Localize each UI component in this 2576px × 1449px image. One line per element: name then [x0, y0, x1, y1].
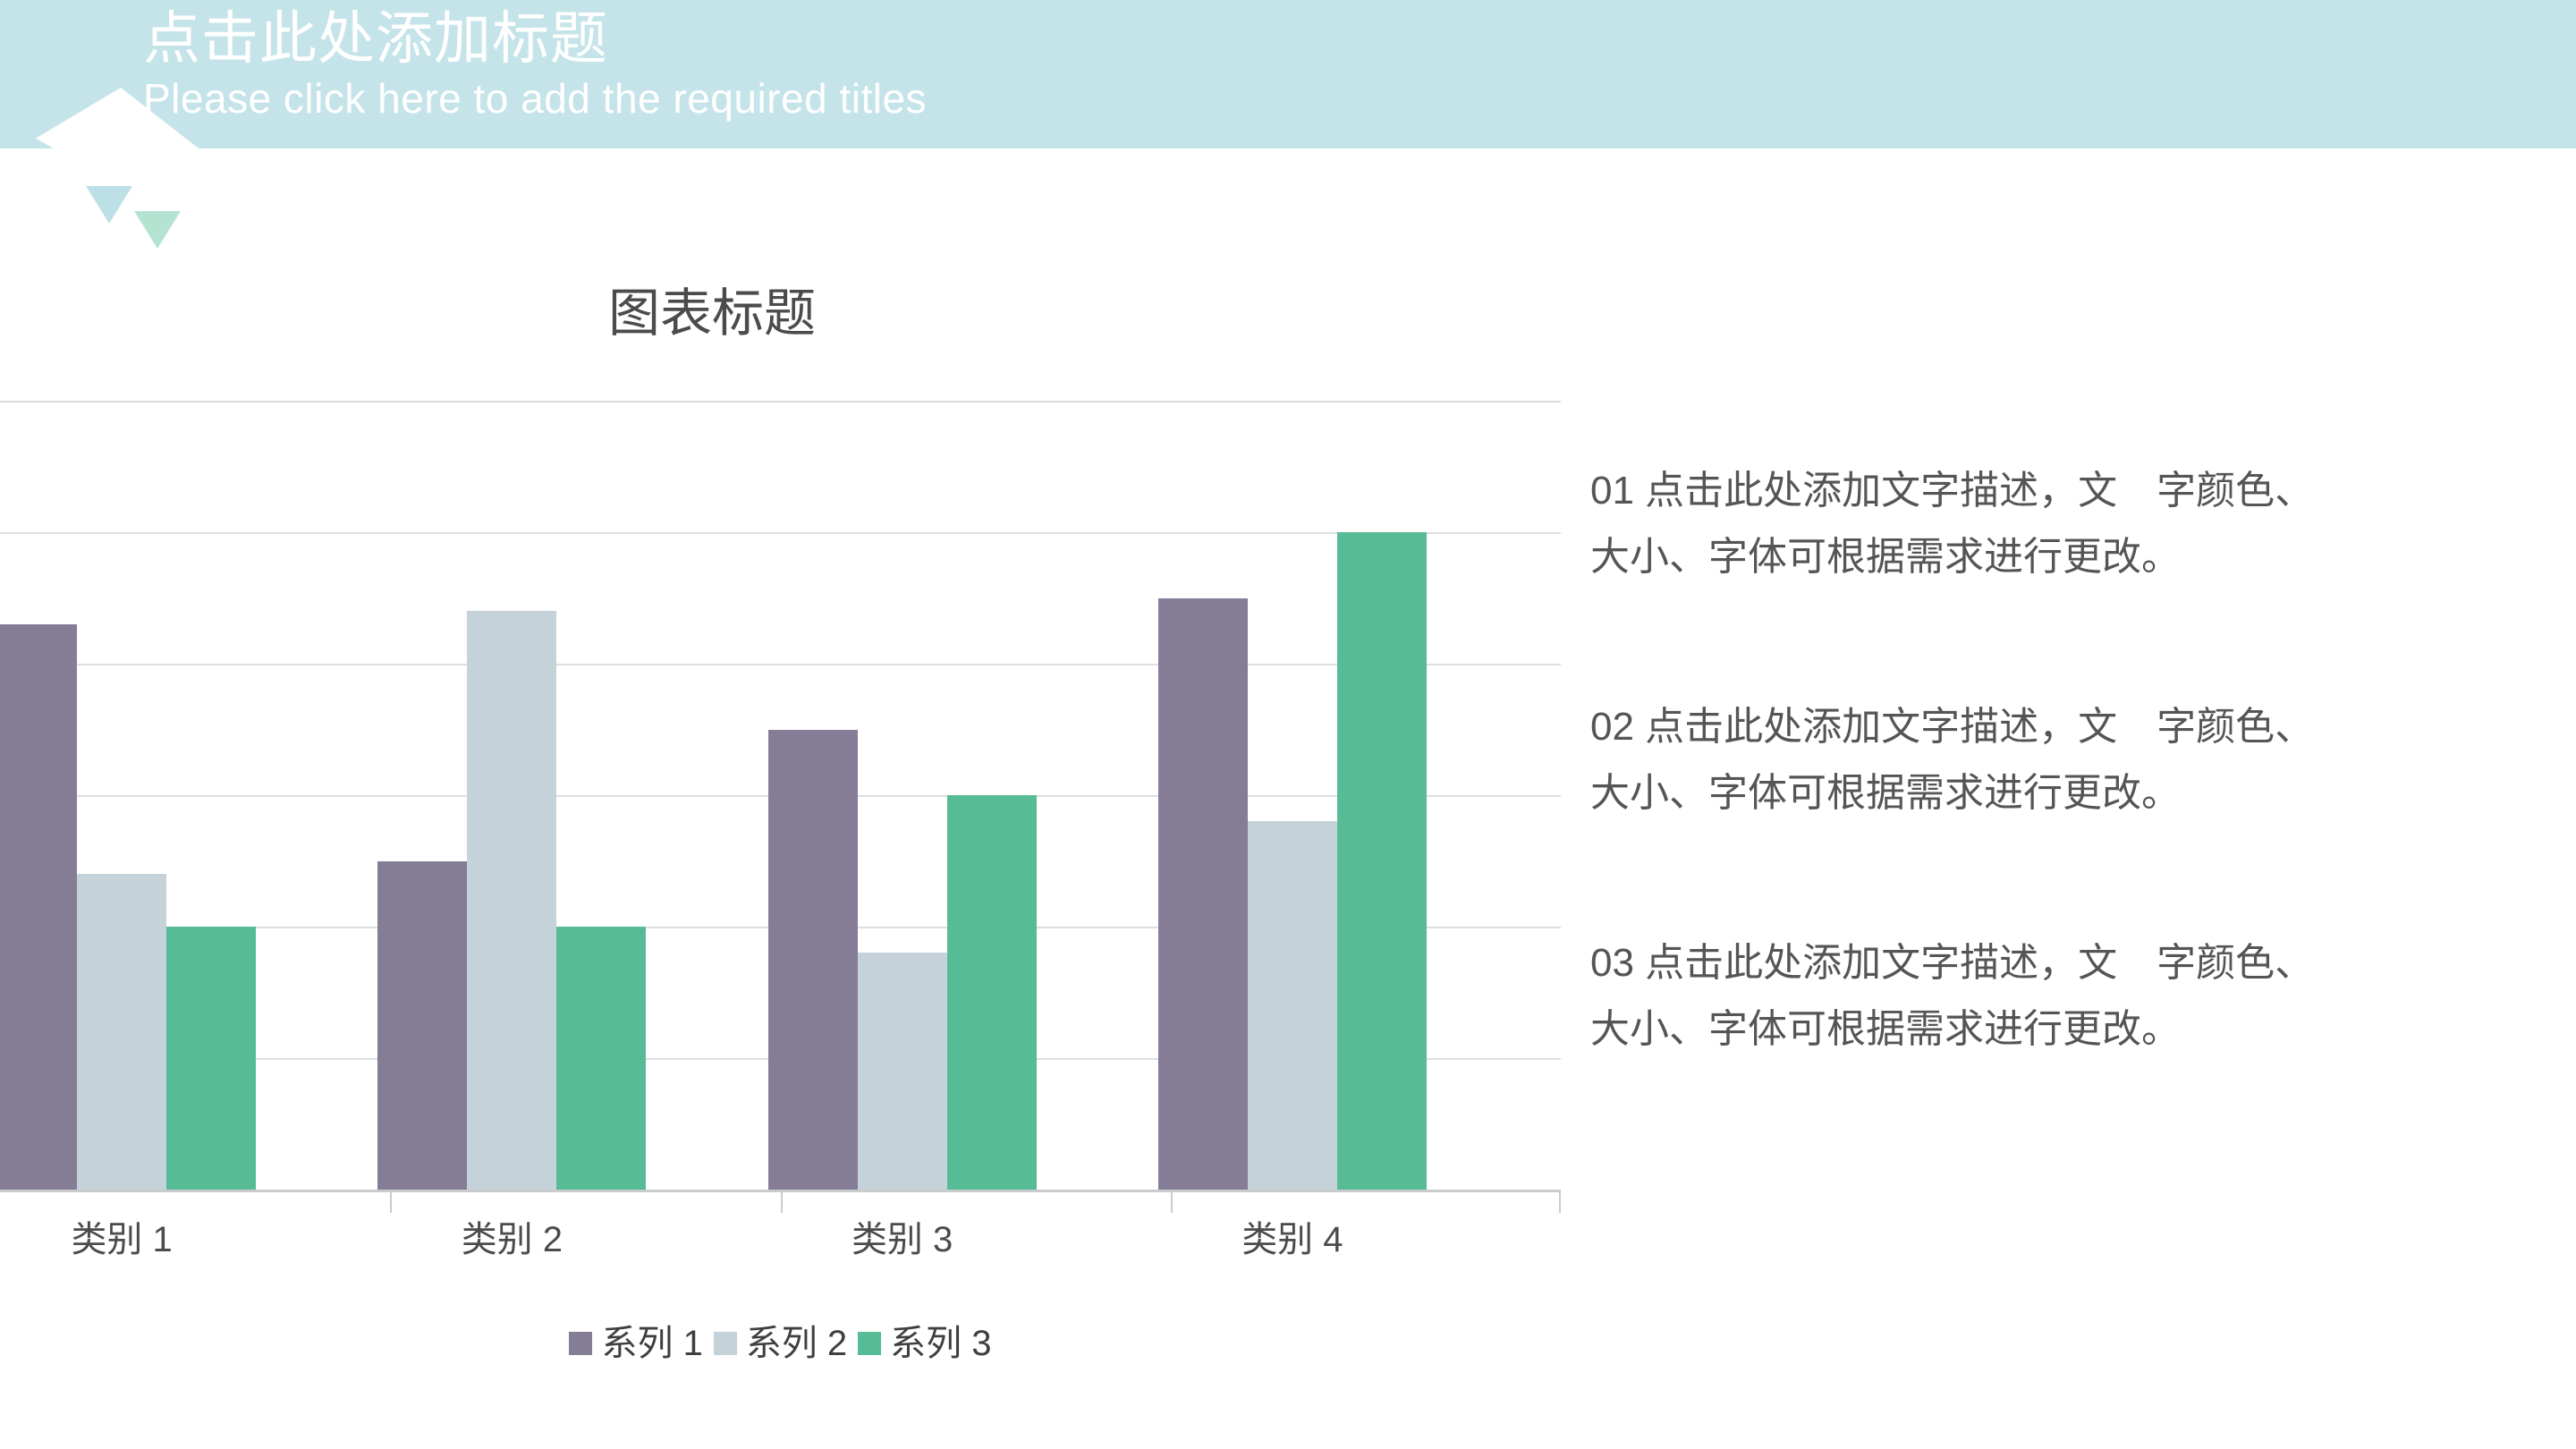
chart-gridline: [0, 664, 1561, 665]
legend-item[interactable]: 系列 3: [858, 1322, 991, 1365]
x-axis-tick: [390, 1191, 392, 1213]
x-axis-label: 类别 2: [377, 1218, 646, 1261]
legend-label: 系列 2: [746, 1322, 847, 1365]
note-line-secondary: 大小、字体可根据需求进行更改。: [1590, 996, 2556, 1063]
chart-bar: [77, 874, 166, 1190]
note-line-primary: 01 点击此处添加文字描述，文 字颜色、: [1590, 458, 2556, 524]
slide-title-en: Please click here to add the required ti…: [143, 73, 927, 123]
chart-gridline: [0, 532, 1561, 534]
x-axis-tick: [781, 1191, 783, 1213]
note-line-secondary: 大小、字体可根据需求进行更改。: [1590, 760, 2556, 826]
chart-bar: [768, 730, 858, 1191]
note-line-primary: 03 点击此处添加文字描述，文 字颜色、: [1590, 930, 2556, 996]
note-line-secondary: 大小、字体可根据需求进行更改。: [1590, 524, 2556, 590]
chart-bar: [858, 953, 947, 1190]
chart-bar: [166, 927, 256, 1190]
legend-label: 系列 3: [890, 1322, 991, 1365]
triangle-down-cyan-icon: [86, 186, 132, 224]
legend-item[interactable]: 系列 1: [569, 1322, 702, 1365]
legend-label: 系列 1: [601, 1322, 702, 1365]
chart-bar: [1248, 821, 1337, 1190]
notes-column: 01 点击此处添加文字描述，文 字颜色、大小、字体可根据需求进行更改。02 点击…: [1590, 458, 2556, 1166]
note-line-primary: 02 点击此处添加文字描述，文 字颜色、: [1590, 694, 2556, 760]
slide-title-cn: 点击此处添加标题: [143, 5, 608, 72]
x-axis-label: 类别 4: [1158, 1218, 1427, 1261]
x-axis-tick: [1171, 1191, 1173, 1213]
chart-title: 图表标题: [608, 283, 816, 345]
triangle-down-mint-icon: [134, 211, 181, 249]
legend-swatch-icon: [858, 1332, 881, 1355]
chart-bar: [1158, 598, 1248, 1191]
chart-bar: [1337, 532, 1427, 1190]
note-block-02[interactable]: 02 点击此处添加文字描述，文 字颜色、大小、字体可根据需求进行更改。: [1590, 694, 2556, 826]
slide-root: 点击此处添加标题 Please click here to add the re…: [0, 0, 2576, 1449]
legend-item[interactable]: 系列 2: [714, 1322, 847, 1365]
note-block-01[interactable]: 01 点击此处添加文字描述，文 字颜色、大小、字体可根据需求进行更改。: [1590, 458, 2556, 590]
chart-bar: [947, 795, 1037, 1190]
chart-legend: 系列 1系列 2系列 3: [0, 1322, 1561, 1365]
legend-swatch-icon: [714, 1332, 737, 1355]
chart-bar: [556, 927, 646, 1190]
chart-gridline: [0, 401, 1561, 402]
legend-swatch-icon: [569, 1332, 592, 1355]
note-block-03[interactable]: 03 点击此处添加文字描述，文 字颜色、大小、字体可根据需求进行更改。: [1590, 930, 2556, 1063]
chart-bar: [0, 624, 77, 1190]
x-axis-tick: [1559, 1191, 1561, 1213]
chart-bar: [467, 611, 556, 1190]
x-axis-label: 类别 1: [0, 1218, 256, 1261]
x-axis-label: 类别 3: [768, 1218, 1037, 1261]
chart-bar: [377, 861, 467, 1191]
chart-plot-area: [0, 401, 1561, 1191]
